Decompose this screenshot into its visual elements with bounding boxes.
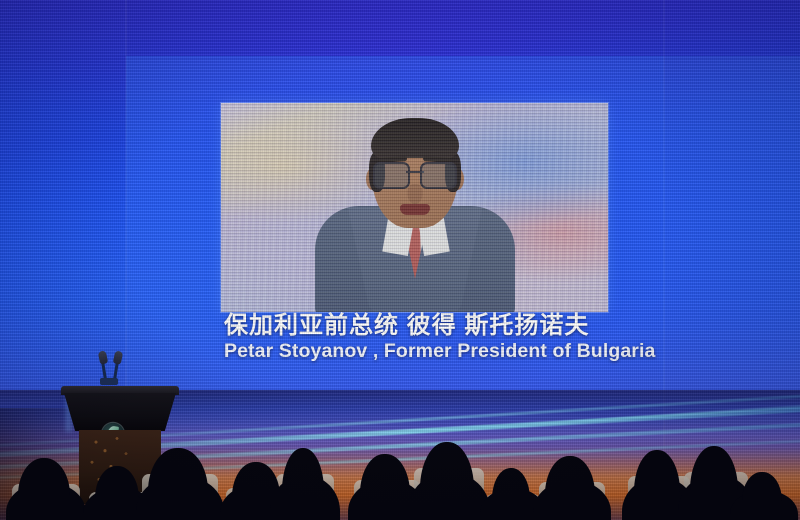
speaker-mouth <box>400 204 430 215</box>
microphone-icon <box>113 350 123 364</box>
audience-head <box>360 454 410 520</box>
caption-english: Petar Stoyanov , Former President of Bul… <box>224 340 694 362</box>
audience-head <box>95 466 139 520</box>
microphone-icon <box>98 350 108 364</box>
caption-chinese: 保加利亚前总统 彼得 斯托扬诺夫 <box>224 313 694 339</box>
speaker-nose <box>407 184 422 204</box>
audience-head <box>742 472 782 520</box>
glasses-lens-left <box>373 162 410 189</box>
speaker-figure <box>221 147 608 312</box>
glasses-lens-right <box>420 162 457 189</box>
audience-head <box>634 450 680 520</box>
audience-head <box>282 448 324 520</box>
microphone-base <box>100 378 118 385</box>
caption-block: 保加利亚前总统 彼得 斯托扬诺夫 Petar Stoyanov , Former… <box>221 313 694 362</box>
audience-head <box>420 442 474 520</box>
audience-head <box>545 456 595 520</box>
speaker-glasses <box>373 162 457 186</box>
video-feed-frame <box>221 103 608 312</box>
audience-head <box>18 458 70 520</box>
conference-stage-photo: 保加利亚前总统 彼得 斯托扬诺夫 Petar Stoyanov , Former… <box>0 0 800 520</box>
audience-head <box>492 468 530 520</box>
audience-silhouettes <box>0 400 800 520</box>
audience-head <box>148 448 208 520</box>
